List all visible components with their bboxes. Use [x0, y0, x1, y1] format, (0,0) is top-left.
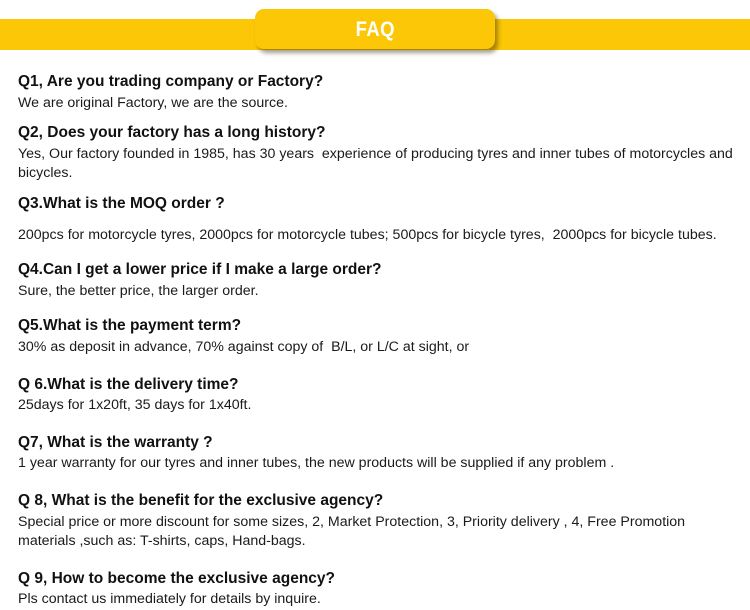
- faq-question-7: Q7, What is the warranty ?: [18, 433, 736, 454]
- faq-title-badge: FAQ: [255, 9, 495, 49]
- faq-item-9: Q 9, How to become the exclusive agency?…: [18, 569, 736, 610]
- faq-item-5: Q5.What is the payment term? 30% as depo…: [18, 316, 736, 357]
- faq-question-6: Q 6.What is the delivery time?: [18, 375, 736, 396]
- faq-item-7: Q7, What is the warranty ? 1 year warran…: [18, 433, 736, 474]
- faq-answer-4: Sure, the better price, the larger order…: [18, 282, 734, 302]
- faq-answer-9: Pls contact us immediately for details b…: [18, 590, 734, 610]
- faq-answer-5: 30% as deposit in advance, 70% against c…: [18, 338, 734, 358]
- faq-answer-6: 25days for 1x20ft, 35 days for 1x40ft.: [18, 396, 734, 416]
- faq-question-3: Q3.What is the MOQ order ?: [18, 194, 736, 215]
- faq-answer-2: Yes, Our factory founded in 1985, has 30…: [18, 145, 734, 184]
- faq-item-4: Q4.Can I get a lower price if I make a l…: [18, 260, 736, 301]
- faq-question-1: Q1, Are you trading company or Factory?: [18, 72, 736, 93]
- faq-header: FAQ: [0, 0, 750, 62]
- faq-question-2: Q2, Does your factory has a long history…: [18, 123, 736, 144]
- faq-answer-7: 1 year warranty for our tyres and inner …: [18, 454, 734, 474]
- faq-answer-8: Special price or more discount for some …: [18, 513, 734, 552]
- faq-item-8: Q 8, What is the benefit for the exclusi…: [18, 491, 736, 552]
- faq-question-5: Q5.What is the payment term?: [18, 316, 736, 337]
- faq-list: Q1, Are you trading company or Factory? …: [0, 62, 750, 610]
- faq-title-label: FAQ: [355, 19, 394, 40]
- faq-item-6: Q 6.What is the delivery time? 25days fo…: [18, 375, 736, 416]
- faq-item-3: Q3.What is the MOQ order ? 200pcs for mo…: [18, 194, 736, 245]
- faq-item-2: Q2, Does your factory has a long history…: [18, 123, 736, 184]
- faq-answer-3: 200pcs for motorcycle tyres, 2000pcs for…: [18, 226, 734, 246]
- faq-answer-1: We are original Factory, we are the sour…: [18, 94, 734, 114]
- faq-question-4: Q4.Can I get a lower price if I make a l…: [18, 260, 736, 281]
- faq-question-9: Q 9, How to become the exclusive agency?: [18, 569, 736, 590]
- faq-question-8: Q 8, What is the benefit for the exclusi…: [18, 491, 736, 512]
- faq-item-1: Q1, Are you trading company or Factory? …: [18, 72, 736, 113]
